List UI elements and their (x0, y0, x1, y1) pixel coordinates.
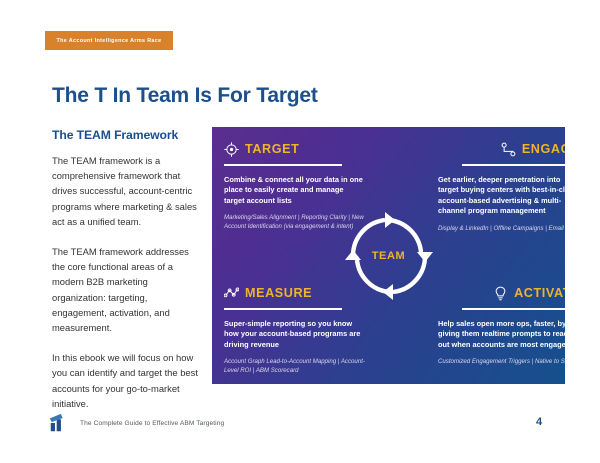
quadrant-target-title: TARGET (245, 142, 299, 156)
crosshair-icon (224, 142, 239, 157)
quadrant-activate-sub: Customized Engagement Triggers | Native … (438, 357, 565, 366)
framework-paragraph-3: In this ebook we will focus on how you c… (52, 350, 204, 411)
slide-page: The Account Intelligence Arms Race The T… (0, 0, 600, 463)
quadrant-target-rule (224, 164, 342, 166)
quadrant-measure-title: MEASURE (245, 286, 312, 300)
team-cycle-label: TEAM (341, 208, 437, 304)
framework-paragraph-2: The TEAM framework addresses the core fu… (52, 244, 204, 335)
quadrant-target-body: Combine & connect all your data in one p… (224, 175, 366, 207)
bar-chart-logo (48, 412, 70, 434)
framework-heading: The TEAM Framework (52, 128, 204, 142)
quadrant-activate-body: Help sales open more ops, faster, by giv… (438, 319, 565, 351)
quadrant-measure-body: Super-simple reporting so you know how y… (224, 319, 366, 351)
quadrant-activate: ACTIVATE Help sales open more ops, faste… (425, 283, 565, 366)
section-tag: The Account Intelligence Arms Race (45, 31, 173, 50)
framework-paragraph-1: The TEAM framework is a comprehensive fr… (52, 153, 204, 229)
quadrant-activate-header: ACTIVATE (425, 283, 565, 303)
quadrant-engage-rule (462, 164, 565, 166)
lightbulb-icon (493, 286, 508, 301)
quadrant-activate-title: ACTIVATE (514, 286, 565, 300)
quadrant-measure-rule (224, 308, 342, 310)
page-number: 4 (536, 416, 542, 428)
quadrant-engage-header: ENGAGE (425, 139, 565, 159)
quadrant-measure-sub: Account Graph Lead-to-Account Mapping | … (224, 357, 366, 375)
network-nodes-icon (501, 142, 516, 157)
footer-text: The Complete Guide to Effective ABM Targ… (80, 420, 224, 427)
team-cycle-diagram: TEAM (341, 208, 437, 304)
line-chart-icon (224, 286, 239, 301)
team-framework-panel: TARGET Combine & connect all your data i… (212, 127, 565, 384)
page-title: The T In Team Is For Target (52, 84, 318, 108)
section-tag-label: The Account Intelligence Arms Race (57, 38, 162, 44)
quadrant-engage: ENGAGE Get earlier, deeper penetration i… (425, 139, 565, 233)
quadrant-target-header: TARGET (224, 139, 379, 159)
quadrant-engage-sub: Display & LinkedIn | Offline Campaigns |… (438, 224, 565, 233)
left-column: The TEAM Framework The TEAM framework is… (52, 128, 204, 426)
quadrant-engage-body: Get earlier, deeper penetration into tar… (438, 175, 565, 217)
quadrant-engage-title: ENGAGE (522, 142, 565, 156)
quadrant-activate-rule (462, 308, 565, 310)
